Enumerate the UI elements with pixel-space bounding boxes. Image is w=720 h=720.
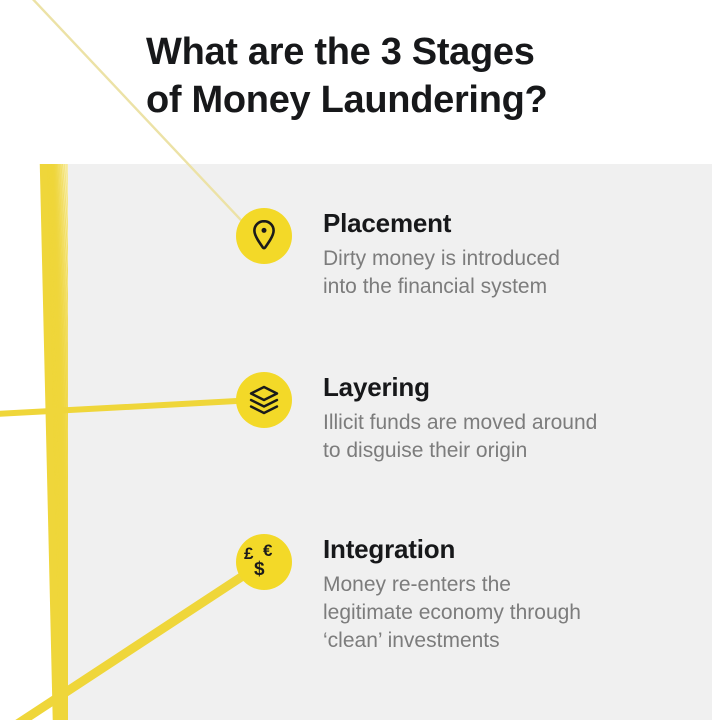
stage-desc-line-1: Dirty money is introduced <box>323 245 560 273</box>
stage-text-layering: Layering Illicit funds are moved around … <box>323 372 597 465</box>
pound-symbol: £ <box>244 545 253 562</box>
stage-text-integration: Integration Money re-enters the legitima… <box>323 534 581 655</box>
page-title-line-2: of Money Laundering? <box>146 76 686 124</box>
location-pin-icon <box>249 219 279 253</box>
page-title: What are the 3 Stages of Money Launderin… <box>146 28 686 125</box>
stage-item-layering: Layering Illicit funds are moved around … <box>236 372 597 465</box>
stage-text-placement: Placement Dirty money is introduced into… <box>323 208 560 301</box>
stage-desc-line-2: to disguise their origin <box>323 437 597 465</box>
stage-icon-badge-placement <box>236 208 292 264</box>
stage-desc-line-1: Money re-enters the <box>323 571 581 599</box>
stage-description-layering: Illicit funds are moved around to disgui… <box>323 409 597 465</box>
currency-symbols-icon: £ € $ <box>241 541 287 583</box>
euro-symbol: € <box>263 542 272 559</box>
stage-desc-line-2: legitimate economy through <box>323 599 581 627</box>
stage-desc-line-3: ‘clean’ investments <box>323 627 581 655</box>
stage-title-layering: Layering <box>323 373 597 402</box>
stage-item-placement: Placement Dirty money is introduced into… <box>236 208 560 301</box>
stage-icon-badge-integration: £ € $ <box>236 534 292 590</box>
dollar-symbol: $ <box>254 560 265 579</box>
stage-description-placement: Dirty money is introduced into the finan… <box>323 245 560 301</box>
stage-icon-badge-layering <box>236 372 292 428</box>
stacked-layers-icon <box>248 384 280 416</box>
stage-item-integration: £ € $ Integration Money re-enters the le… <box>236 534 581 655</box>
stage-desc-line-2: into the financial system <box>323 273 560 301</box>
infographic-canvas: What are the 3 Stages of Money Launderin… <box>0 0 720 720</box>
stage-title-placement: Placement <box>323 209 560 238</box>
right-edge-strip <box>712 0 720 720</box>
stage-desc-line-1: Illicit funds are moved around <box>323 409 597 437</box>
page-title-line-1: What are the 3 Stages <box>146 28 686 76</box>
stage-title-integration: Integration <box>323 535 581 564</box>
stage-description-integration: Money re-enters the legitimate economy t… <box>323 571 581 655</box>
